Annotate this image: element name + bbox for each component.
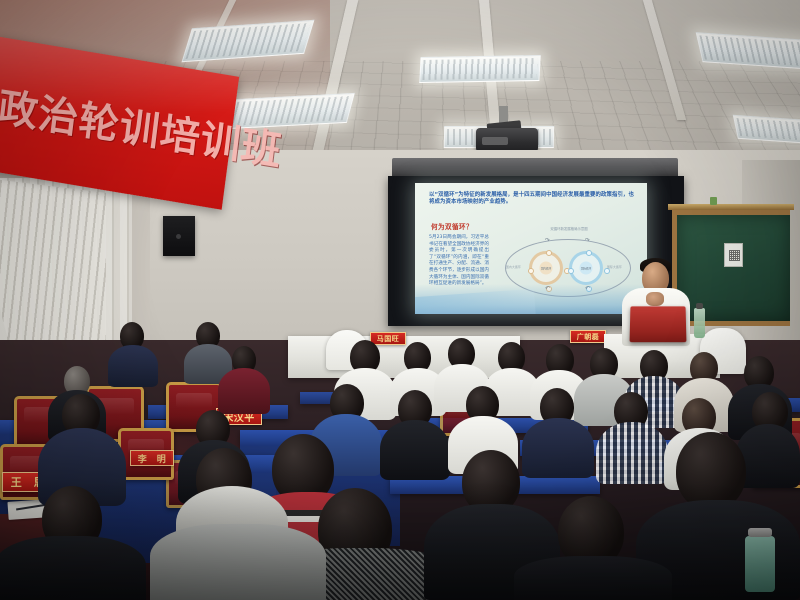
attendee-body [514,556,672,600]
diagram-node [546,250,552,256]
diagram-node [568,268,574,274]
presenter-hands [646,292,664,306]
lecture-hall-photo: 部政治轮训培训班 以“双循环”为特征的新发展格局，是十四五期间中国经济发展最重要… [0,0,800,600]
attendee-body [596,422,668,484]
diagram-international-circle: 国际循环 [569,251,603,285]
name-placard: 广朝磊 [570,330,606,343]
wall-speaker [163,216,195,256]
diagram-node [586,250,592,256]
attendee-body [0,536,146,600]
attendee-head [676,432,746,510]
slide-body-text: 5月23日两会期间，习近平总书记在看望全国政协经济界的委员时，第一次明确提出了“… [429,235,489,288]
name-placard: 马国旺 [370,332,406,345]
slide-question: 何为双循环？ [431,221,473,231]
diagram-title: 双循环新发展格局示意图 [529,226,609,231]
diagram-domestic-circle: 国内循环 [529,251,563,285]
diagram-domestic-core: 国内循环 [540,262,553,275]
diagram-left-label: 国内大循环 [506,265,521,269]
chalkboard-marker [710,197,717,205]
red-laptop [630,306,687,342]
qr-code-notice [724,243,743,267]
attendee-body [522,418,594,478]
water-bottle [694,308,705,338]
diagram-right-label: 国际大循环 [607,265,622,269]
attendee-body [108,345,158,387]
diagram-node [528,268,534,274]
name-placard: 李 明 [130,450,174,466]
ceiling-light-panel [419,55,540,83]
attendee-body [150,524,326,600]
attendee-body [380,420,450,480]
slide-heading: 以“双循环”为特征的新发展格局，是十四五期间中国经济发展最重要的政策指引，也将成… [429,192,635,207]
attendee-body [218,368,270,414]
presentation-slide: 以“双循环”为特征的新发展格局，是十四五期间中国经济发展最重要的政策指引，也将成… [415,183,647,314]
green-thermos [745,536,775,592]
diagram-international-core: 国际循环 [580,262,593,275]
